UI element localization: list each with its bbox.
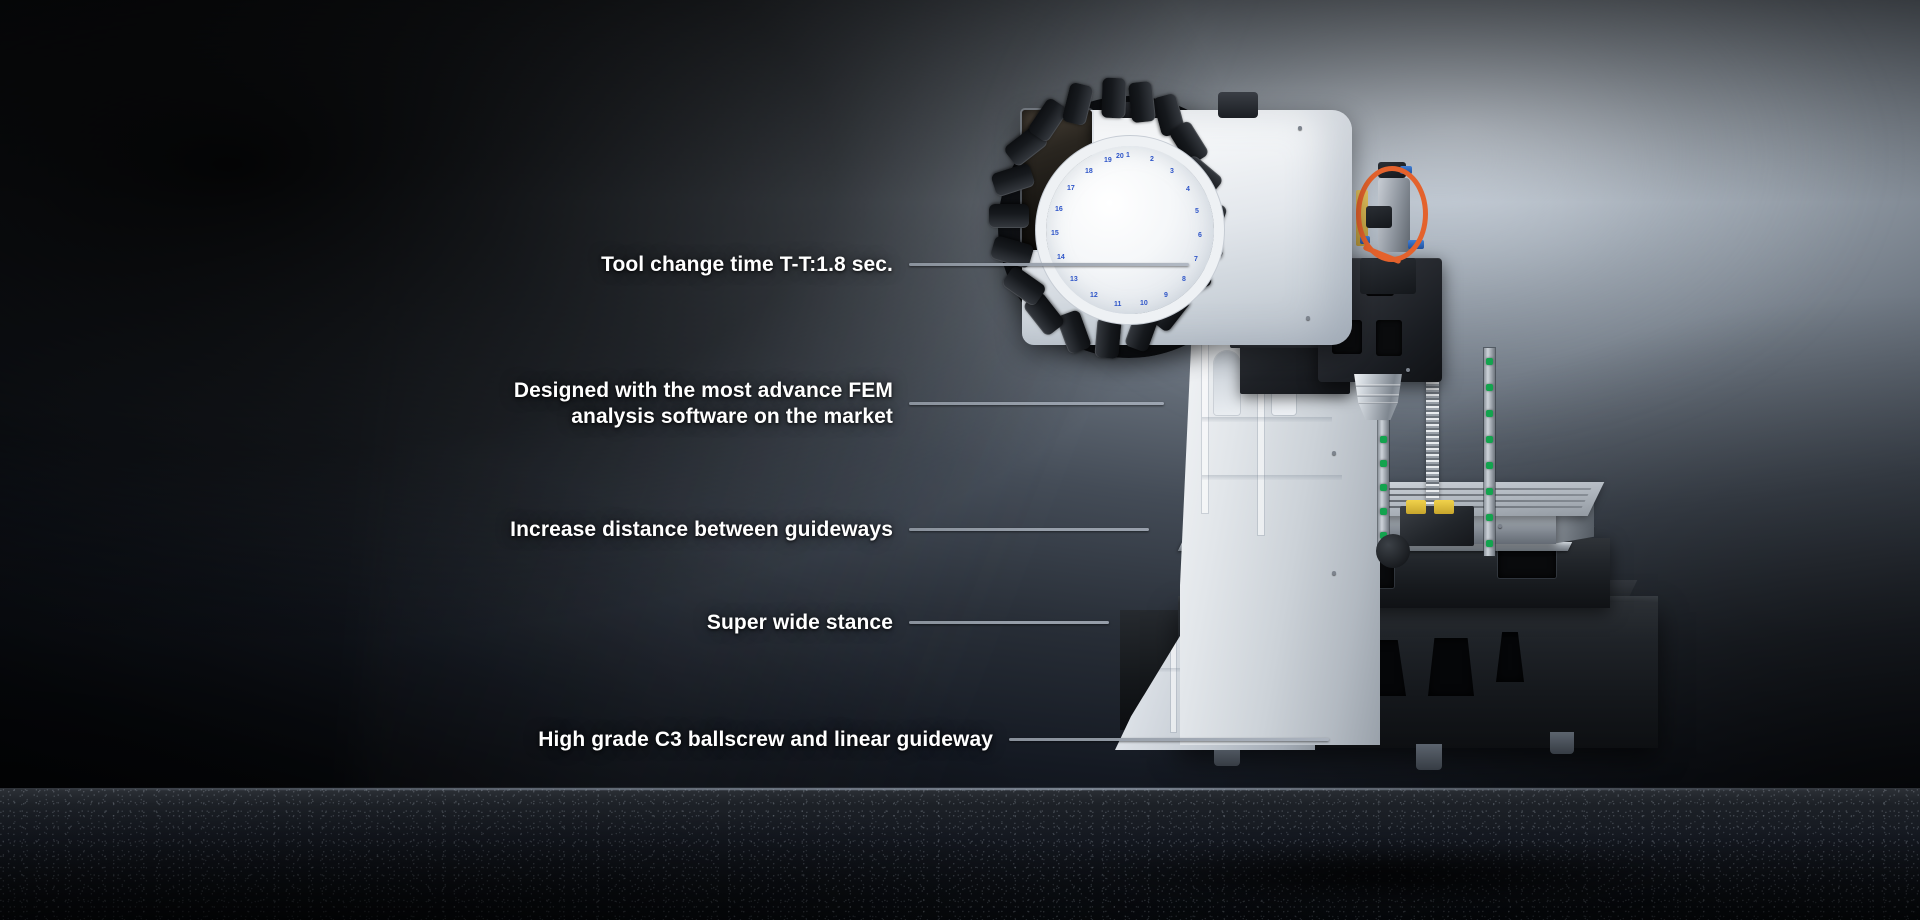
callout-label: Tool change time T-T:1.8 sec. [523,252,893,278]
callout-guideway-distance: Increase distance between guideways [438,517,1149,543]
callout-c3-ballscrew: High grade C3 ballscrew and linear guide… [408,727,1329,753]
callout-leader-line [909,528,1149,531]
callout-label: Super wide stance [573,610,893,636]
callout-super-wide-stance: Super wide stance [573,610,1109,636]
callout-leader-line [909,621,1109,624]
callout-leader-line [909,402,1164,405]
callout-leader-line [909,263,1189,266]
callout-leader-line [1009,738,1329,741]
product-hero-image: 1 2 3 4 5 6 7 8 9 10 11 12 13 14 15 16 1… [0,0,1920,920]
callout-label: Increase distance between guideways [438,517,893,543]
callout-tool-change-time: Tool change time T-T:1.8 sec. [523,252,1189,278]
callout-layer: Tool change time T-T:1.8 sec. Designed w… [0,0,1920,920]
callout-label: High grade C3 ballscrew and linear guide… [408,727,993,753]
callout-fem-analysis: Designed with the most advance FEM analy… [398,378,1164,429]
callout-label: Designed with the most advance FEM analy… [398,378,893,429]
